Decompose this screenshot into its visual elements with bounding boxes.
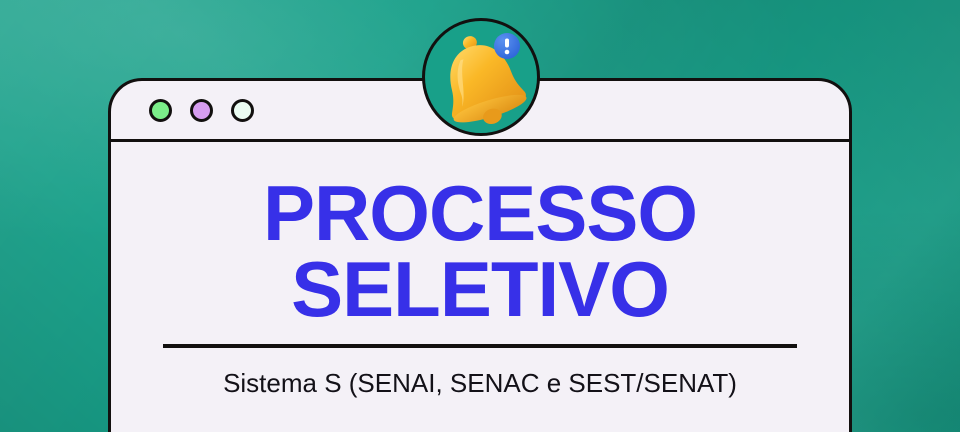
window-dot-white[interactable] [231, 99, 254, 122]
page-title: PROCESSO SELETIVO [163, 176, 797, 327]
window-dot-green[interactable] [149, 99, 172, 122]
bell-icon [425, 21, 537, 133]
page-title-line-2: SELETIVO [163, 252, 797, 328]
page-title-line-1: PROCESSO [163, 176, 797, 252]
notification-medallion[interactable] [422, 18, 540, 136]
poster-canvas: PROCESSO SELETIVO Sistema S (SENAI, SENA… [0, 0, 960, 432]
page-subtitle: Sistema S (SENAI, SENAC e SEST/SENAT) [163, 368, 797, 399]
exclamation-badge-icon [494, 33, 520, 59]
title-divider [163, 344, 797, 348]
window-dot-purple[interactable] [190, 99, 213, 122]
window-content: PROCESSO SELETIVO Sistema S (SENAI, SENA… [111, 142, 849, 432]
